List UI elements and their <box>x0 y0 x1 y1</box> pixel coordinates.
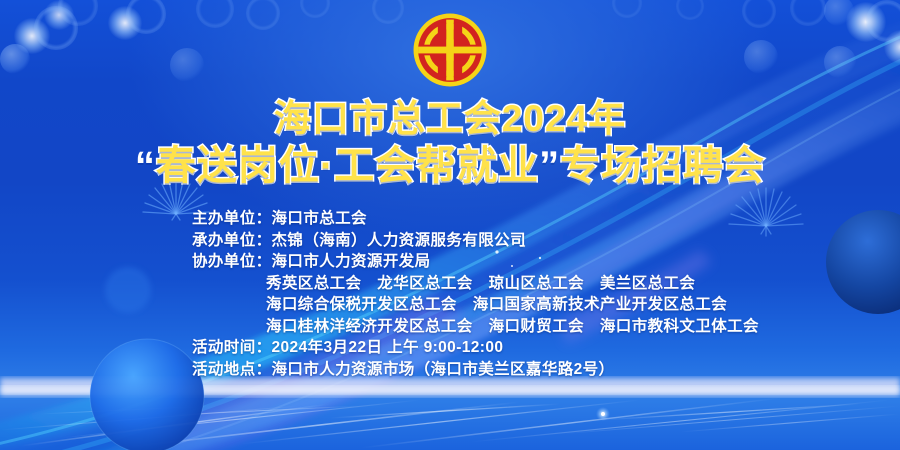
info-value: 秀英区总工会 龙华区总工会 琼山区总工会 美兰区总工会 <box>266 275 695 292</box>
info-row: 秀英区总工会 龙华区总工会 琼山区总工会 美兰区总工会 <box>192 273 852 295</box>
info-row: 海口桂林洋经济开发区总工会 海口财贸工会 海口市教科文卫体工会 <box>192 316 852 338</box>
info-value: 杰锦（海南）人力资源服务有限公司 <box>272 232 526 249</box>
title-block: 海口市总工会2024年 “春送岗位·工会帮就业”专场招聘会 <box>0 100 900 186</box>
title-slogan: 春送岗位·工会帮就业 <box>156 144 539 188</box>
info-row: 主办单位：海口市总工会 <box>192 208 852 230</box>
info-value: 海口市人力资源市场（海口市美兰区嘉华路2号） <box>272 361 615 378</box>
info-value: 海口市总工会 <box>272 210 367 227</box>
info-row: 活动时间：2024年3月22日 上午 9:00-12:00 <box>192 337 852 359</box>
info-row: 承办单位：杰锦（海南）人力资源服务有限公司 <box>192 230 852 252</box>
page-title-line2: “春送岗位·工会帮就业”专场招聘会 <box>0 146 900 186</box>
page-title-line1: 海口市总工会2024年 <box>0 100 900 137</box>
quote-close: ” <box>539 144 560 188</box>
acftu-emblem-logo <box>412 12 488 88</box>
poster-canvas: 海口市总工会2024年 “春送岗位·工会帮就业”专场招聘会 主办单位：海口市总工… <box>0 0 900 450</box>
sphere-small-left <box>105 267 151 313</box>
info-row: 海口综合保税开发区总工会 海口国家高新技术产业开发区总工会 <box>192 294 852 316</box>
info-value: 海口市人力资源开发局 <box>272 253 431 270</box>
quote-open: “ <box>135 144 156 188</box>
info-label: 承办单位： <box>192 232 272 249</box>
info-value: 海口桂林洋经济开发区总工会 海口财贸工会 海口市教科文卫体工会 <box>266 318 759 335</box>
info-value: 海口综合保税开发区总工会 海口国家高新技术产业开发区总工会 <box>266 296 727 313</box>
info-value: 2024年3月22日 上午 9:00-12:00 <box>272 339 504 356</box>
event-info-block: 主办单位：海口市总工会 承办单位：杰锦（海南）人力资源服务有限公司 协办单位：海… <box>192 208 852 380</box>
info-label: 活动地点： <box>192 361 272 378</box>
info-label: 活动时间： <box>192 339 272 356</box>
info-label: 主办单位： <box>192 210 272 227</box>
acftu-emblem-icon <box>412 12 488 88</box>
info-label: 协办单位： <box>192 253 272 270</box>
info-row: 活动地点：海口市人力资源市场（海口市美兰区嘉华路2号） <box>192 359 852 381</box>
info-row: 协办单位：海口市人力资源开发局 <box>192 251 852 273</box>
title-tail: 专场招聘会 <box>560 144 765 188</box>
